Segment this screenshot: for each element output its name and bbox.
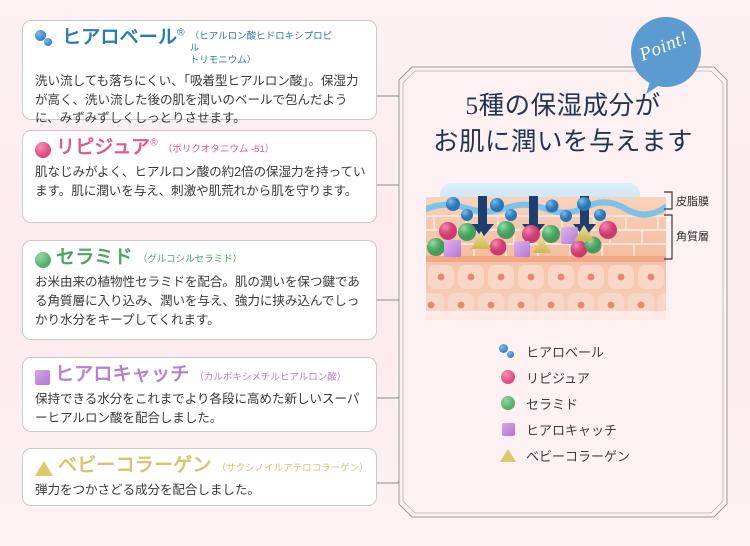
- legend-label: ベビーコラーゲン: [526, 446, 630, 465]
- ingredient-inci: （カルボキシメチルヒアルロン酸）: [194, 365, 346, 384]
- ingredient-description: お米由来の植物性セラミドを配合。肌の潤いを保つ鍵である角質層に入り込み、潤いを与…: [35, 273, 366, 330]
- ingredient-description: 保持できる水分をこれまでより各段に高めた新しいスーパーヒアルロン酸を配合しました…: [35, 390, 366, 428]
- legend: ヒアロベール リピジュア セラミド ヒアロキャッチ ベビーコラーゲン: [498, 338, 630, 468]
- yellow-triangle-icon: [498, 449, 518, 462]
- ingredient-name: ヒアロベール®: [62, 28, 185, 47]
- panel-title: 5種の保湿成分が お肌に潤いを与えます: [398, 88, 728, 160]
- ingredient-card-hyalo-veil: ヒアロベール® （ヒアルロン酸ヒドロキシプロピル トリモニウム） 洗い流しても落…: [22, 20, 377, 120]
- panel-title-line-2: お肌に潤いを与えます: [433, 127, 693, 156]
- yellow-triangle-icon: [35, 461, 53, 476]
- ingredient-name: リピジュア®: [56, 138, 158, 157]
- ingredient-name-text: ヒアロキャッチ: [55, 364, 189, 385]
- layer-label-stratum-corneum: 角質層: [676, 228, 709, 244]
- two-blue-dots-icon: [35, 30, 57, 49]
- ingredient-description: 肌なじみがよく、ヒアルロン酸の約2倍の保湿力を持っています。肌に潤いを与え、刺激…: [35, 163, 366, 201]
- legend-label: ヒアロベール: [526, 342, 604, 361]
- skin-cross-section-diagram: 皮脂膜 角質層: [426, 183, 666, 328]
- card-header: ベビーコラーゲン （サクシノイルアテロコラーゲン）: [35, 456, 366, 476]
- ingredient-description: 洗い流しても落ちにくい、「吸着型ヒアルロン酸」。保湿力が高く、洗い流した後の肌を…: [35, 72, 366, 129]
- legend-label: セラミド: [526, 394, 578, 413]
- legend-item-hyalo-catch: ヒアロキャッチ: [498, 416, 630, 442]
- ingredient-name: セラミド: [56, 248, 133, 267]
- legend-label: ヒアロキャッチ: [526, 420, 617, 439]
- card-header: ヒアロキャッチ （カルボキシメチルヒアルロン酸）: [35, 365, 366, 385]
- legend-label: リピジュア: [526, 368, 590, 387]
- legend-item-hyalo-veil: ヒアロベール: [498, 338, 630, 364]
- skin-layers: [426, 183, 666, 328]
- ingredient-name-text: リピジュア: [56, 137, 150, 158]
- card-header: リピジュア® （ポリクオタニウム -51）: [35, 138, 366, 158]
- ingredient-card-hyalo-catch: ヒアロキャッチ （カルボキシメチルヒアルロン酸） 保持できる水分をこれまでより各…: [22, 357, 377, 432]
- ingredient-card-lipidure: リピジュア® （ポリクオタニウム -51） 肌なじみがよく、ヒアルロン酸の約2倍…: [22, 130, 377, 223]
- green-circle-icon: [35, 252, 51, 268]
- ingredient-name-text: ヒアロベール: [62, 27, 177, 48]
- inci-line-1: （ヒアルロン酸ヒドロキシプロピル: [190, 31, 332, 54]
- ingredient-name: ヒアロキャッチ: [55, 365, 189, 384]
- ingredient-card-ceramide: セラミド （グルコシルセラミド） お米由来の植物性セラミドを配合。肌の潤いを保つ…: [22, 240, 377, 340]
- green-circle-icon: [498, 396, 518, 410]
- card-header: セラミド （グルコシルセラミド）: [35, 248, 366, 268]
- legend-item-baby-collagen: ベビーコラーゲン: [498, 442, 630, 468]
- two-blue-dots-icon: [498, 342, 518, 360]
- ingredient-inci: （グルコシルセラミド）: [138, 248, 242, 266]
- ingredient-inci: （ポリクオタニウム -51）: [163, 138, 274, 156]
- ingredient-description: 弾力をつかさどる成分を配合しました。: [35, 481, 366, 500]
- ingredient-card-baby-collagen: ベビーコラーゲン （サクシノイルアテロコラーゲン） 弾力をつかさどる成分を配合し…: [22, 448, 377, 506]
- ingredient-inci: （サクシノイルアテロコラーゲン）: [217, 456, 366, 475]
- infographic-root: ヒアロベール® （ヒアルロン酸ヒドロキシプロピル トリモニウム） 洗い流しても落…: [0, 0, 750, 546]
- card-header: ヒアロベール® （ヒアルロン酸ヒドロキシプロピル トリモニウム）: [35, 28, 366, 67]
- legend-item-lipidure: リピジュア: [498, 364, 630, 390]
- legend-item-ceramide: セラミド: [498, 390, 630, 416]
- ingredient-name-text: セラミド: [56, 247, 133, 268]
- pink-circle-icon: [498, 370, 518, 384]
- point-badge: Point!: [628, 14, 704, 98]
- ingredient-inci: （ヒアルロン酸ヒドロキシプロピル トリモニウム）: [190, 28, 340, 67]
- purple-square-icon: [498, 423, 518, 436]
- layer-label-sebum-film: 皮脂膜: [676, 193, 709, 209]
- ingredient-name-text: ベビーコラーゲン: [58, 455, 212, 476]
- registered-mark: ®: [177, 28, 185, 39]
- inci-line-2: トリモニウム）: [190, 55, 257, 66]
- purple-square-icon: [35, 370, 50, 385]
- ingredient-name: ベビーコラーゲン: [58, 456, 212, 475]
- registered-mark: ®: [150, 138, 158, 149]
- pink-circle-icon: [35, 142, 51, 158]
